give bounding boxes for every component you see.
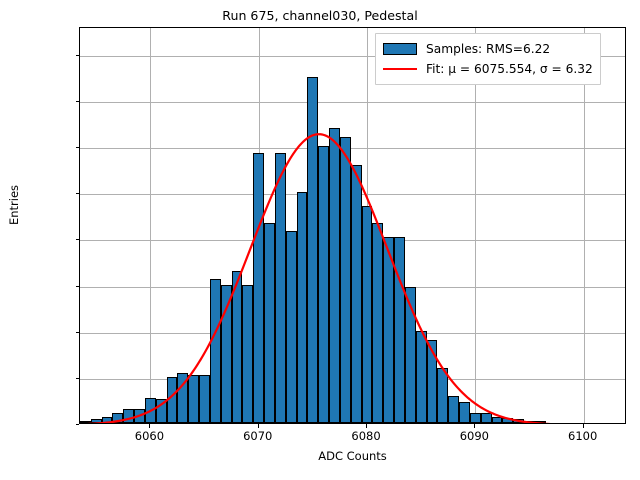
- x-tick-label: 6060: [135, 429, 164, 443]
- chart-legend[interactable]: Samples: RMS=6.22 Fit: μ = 6075.554, σ =…: [375, 33, 601, 85]
- y-tick-mark: [76, 424, 80, 425]
- legend-entry-fit[interactable]: Fit: μ = 6075.554, σ = 6.32: [383, 59, 593, 79]
- legend-label-fit: Fit: μ = 6075.554, σ = 6.32: [426, 63, 593, 75]
- y-tick-mark: [76, 101, 80, 102]
- chart-title: Run 675, channel030, Pedestal: [0, 8, 640, 23]
- plot-axes: [79, 27, 626, 424]
- x-tick-mark: [474, 424, 475, 428]
- y-tick-mark: [76, 378, 80, 379]
- x-tick-mark: [149, 424, 150, 428]
- x-tick-mark: [366, 424, 367, 428]
- x-tick-mark: [583, 424, 584, 428]
- legend-label-samples: Samples: RMS=6.22: [426, 43, 550, 55]
- gaussian-fit-curve: [80, 28, 625, 423]
- x-tick-label: 6100: [568, 429, 597, 443]
- legend-patch-icon: [383, 43, 417, 55]
- plot-area: [80, 28, 625, 423]
- y-tick-mark: [76, 239, 80, 240]
- fit-path: [80, 134, 558, 423]
- y-tick-mark: [76, 286, 80, 287]
- x-axis-label: ADC Counts: [79, 449, 626, 463]
- y-tick-mark: [76, 147, 80, 148]
- y-axis-label: Entries: [7, 115, 21, 295]
- x-tick-label: 6090: [460, 429, 489, 443]
- x-tick-label: 6070: [243, 429, 272, 443]
- legend-entry-samples[interactable]: Samples: RMS=6.22: [383, 39, 593, 59]
- x-tick-label: 6080: [351, 429, 380, 443]
- y-tick-mark: [76, 332, 80, 333]
- y-tick-mark: [76, 55, 80, 56]
- y-tick-mark: [76, 193, 80, 194]
- x-tick-mark: [258, 424, 259, 428]
- legend-line-icon: [383, 68, 417, 70]
- figure-canvas: Run 675, channel030, Pedestal 0100200300…: [0, 0, 640, 480]
